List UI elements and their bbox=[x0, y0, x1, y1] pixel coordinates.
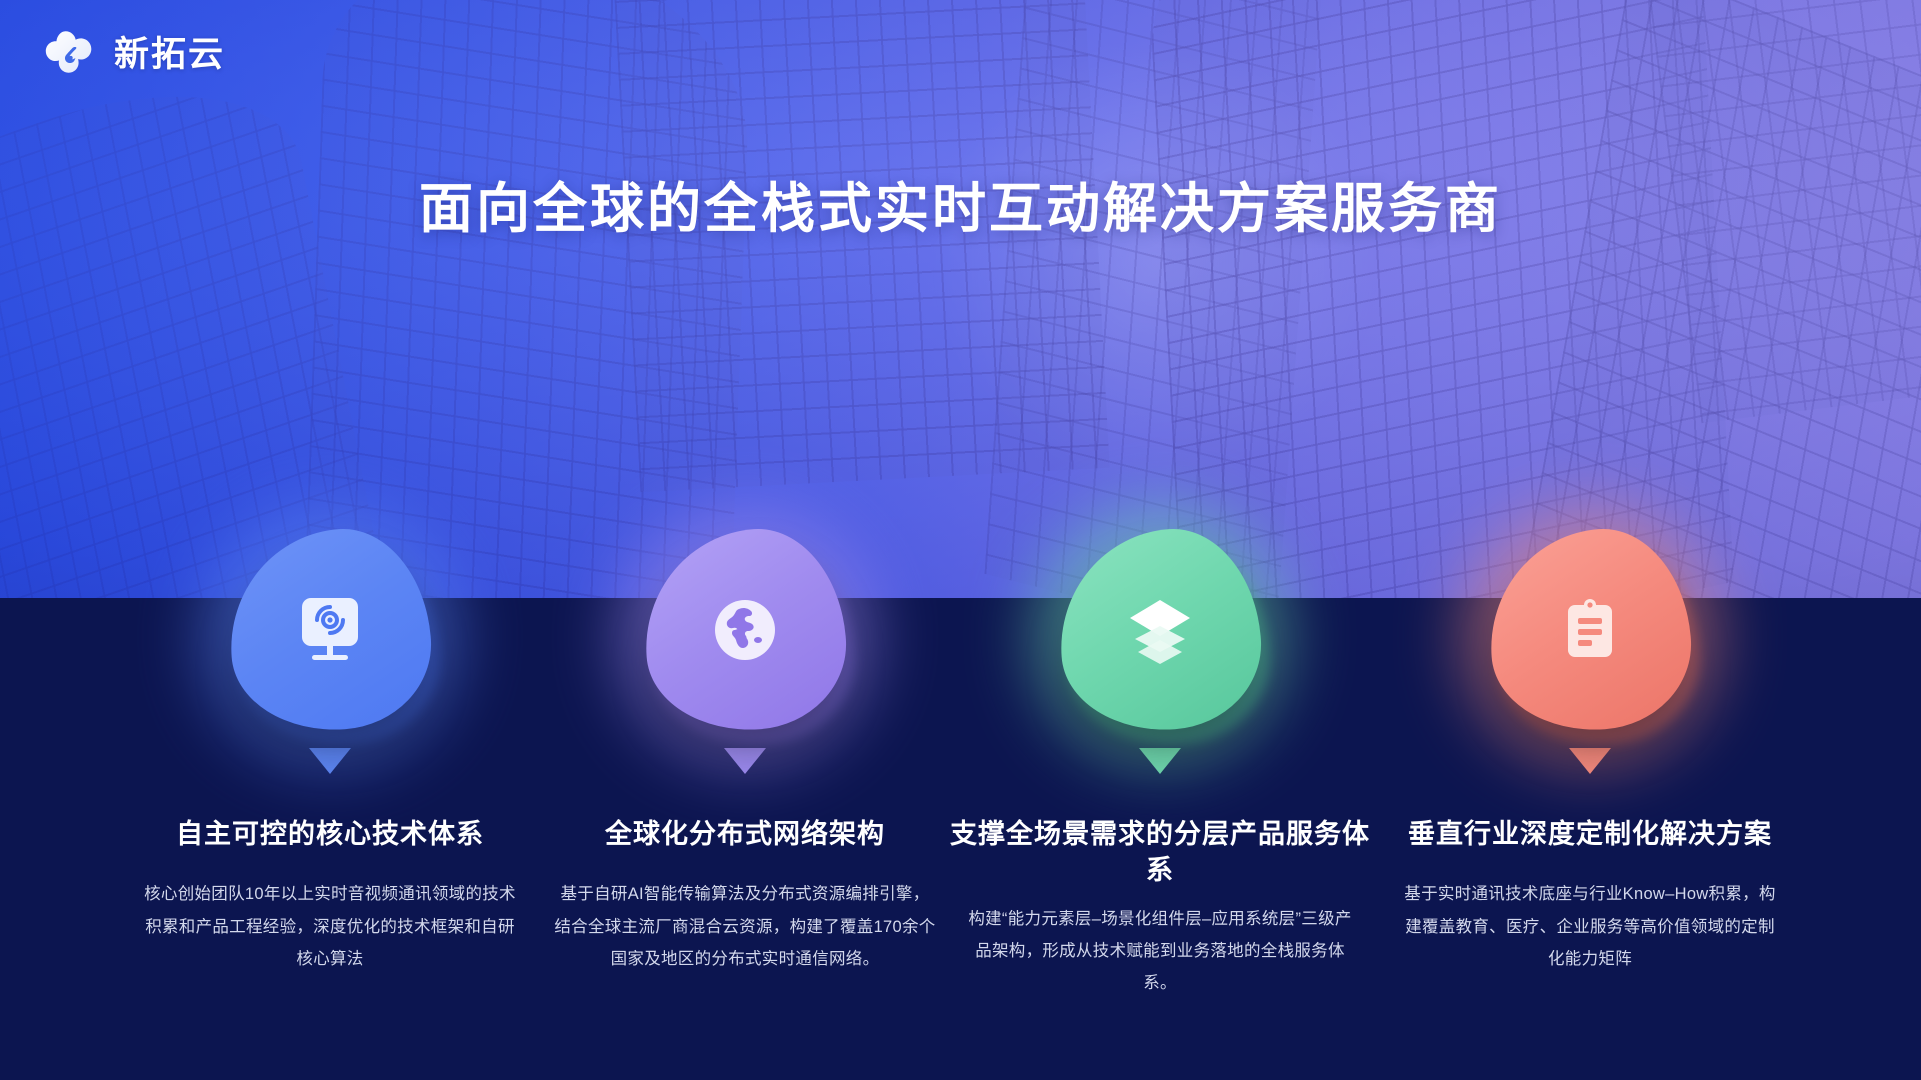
feature-card-4[interactable]: 垂直行业深度定制化解决方案 基于实时通讯技术底座与行业Know–How积累，构建… bbox=[1380, 530, 1800, 975]
feature-card-list: 自主可控的核心技术体系 核心创始团队10年以上实时音视频通讯领域的技术积累和产品… bbox=[0, 0, 1921, 1080]
brand-name: 新拓云 bbox=[114, 37, 225, 72]
feature-desc-4: 基于实时通讯技术底座与行业Know–How积累，构建覆盖教育、医疗、企业服务等高… bbox=[1380, 878, 1800, 975]
feature-icon-blob-3 bbox=[1060, 530, 1260, 730]
feature-title-1: 自主可控的核心技术体系 bbox=[120, 816, 540, 852]
webcam-monitor-icon bbox=[230, 530, 430, 730]
feature-icon-blob-4 bbox=[1490, 530, 1690, 730]
feature-desc-2: 基于自研AI智能传输算法及分布式资源编排引擎，结合全球主流厂商混合云资源，构建了… bbox=[535, 878, 955, 975]
feature-desc-1: 核心创始团队10年以上实时音视频通讯领域的技术积累和产品工程经验，深度优化的技术… bbox=[120, 878, 540, 975]
feature-card-3[interactable]: 支撑全场景需求的分层产品服务体系 构建“能力元素层–场景化组件层–应用系统层”三… bbox=[950, 530, 1370, 999]
cloud-swirl-logo-icon bbox=[44, 26, 100, 82]
feature-title-3: 支撑全场景需求的分层产品服务体系 bbox=[950, 816, 1370, 889]
feature-icon-blob-1 bbox=[230, 530, 430, 730]
brand-logo[interactable]: 新拓云 bbox=[44, 26, 225, 82]
feature-card-2[interactable]: 全球化分布式网络架构 基于自研AI智能传输算法及分布式资源编排引擎，结合全球主流… bbox=[535, 530, 955, 975]
feature-card-1[interactable]: 自主可控的核心技术体系 核心创始团队10年以上实时音视频通讯领域的技术积累和产品… bbox=[120, 530, 540, 975]
clipboard-document-icon bbox=[1490, 530, 1690, 730]
page-stage: 新拓云 面向全球的全栈式实时互动解决方案服务商 bbox=[0, 0, 1921, 1080]
page-title: 面向全球的全栈式实时互动解决方案服务商 bbox=[0, 174, 1921, 244]
feature-desc-3: 构建“能力元素层–场景化组件层–应用系统层”三级产品架构，形成从技术赋能到业务落… bbox=[950, 903, 1370, 1000]
feature-icon-blob-2 bbox=[645, 530, 845, 730]
stacked-layers-icon bbox=[1060, 530, 1260, 730]
feature-title-4: 垂直行业深度定制化解决方案 bbox=[1380, 816, 1800, 852]
feature-title-2: 全球化分布式网络架构 bbox=[535, 816, 955, 852]
globe-earth-icon bbox=[645, 530, 845, 730]
